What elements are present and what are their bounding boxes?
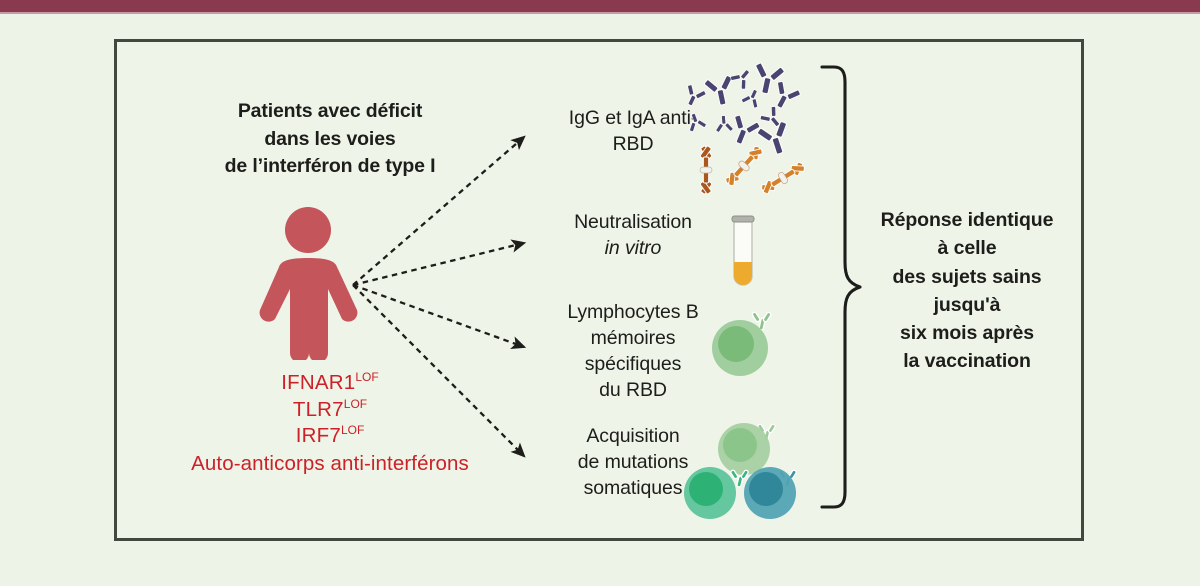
antibodies-icon [682, 60, 806, 198]
label-line-italic: in vitro [543, 236, 723, 262]
gene-item: IFNAR1LOF [120, 370, 540, 397]
test-tube-icon [716, 212, 770, 296]
gene-superscript: LOF [344, 397, 367, 411]
label-line: mémoires [543, 326, 723, 352]
person-icon [248, 205, 368, 360]
b-cell-cluster-icon [682, 416, 802, 524]
patient-title-line-3: de l’interféron de type I [160, 153, 500, 181]
response-line: jusqu'à [862, 291, 1072, 319]
gene-deficiency-list: IFNAR1LOF TLR7LOF IRF7LOF Auto-anticorps… [120, 370, 540, 478]
label-line: spécifiques [543, 352, 723, 378]
patient-title-line-2: dans les voies [160, 126, 500, 154]
response-line: six mois après [862, 319, 1072, 347]
patient-group-title: Patients avec déficit dans les voies de … [160, 98, 500, 181]
figure-canvas: Patients avec déficit dans les voies de … [0, 0, 1200, 586]
b-cell-icon [706, 310, 784, 388]
patient-title-line-1: Patients avec déficit [160, 98, 500, 126]
curly-brace-icon [818, 64, 866, 510]
autoantibodies-label: Auto-anticorps anti-interférons [120, 451, 540, 478]
label-neutralisation: Neutralisation in vitro [543, 210, 723, 262]
gene-superscript: LOF [341, 423, 364, 437]
gene-item: TLR7LOF [120, 397, 540, 424]
gene-item: IRF7LOF [120, 423, 540, 450]
gene-name: IFNAR1 [281, 371, 355, 394]
gene-name: IRF7 [296, 424, 341, 447]
label-line: du RBD [543, 378, 723, 404]
response-line: Réponse identique [862, 206, 1072, 234]
response-summary-text: Réponse identique à celle des sujets sai… [862, 206, 1072, 376]
gene-superscript: LOF [355, 370, 378, 384]
label-memory-b-cells: Lymphocytes B mémoires spécifiques du RB… [543, 300, 723, 404]
response-line: des sujets sains [862, 263, 1072, 291]
label-line: Lymphocytes B [543, 300, 723, 326]
top-accent-bar [0, 0, 1200, 14]
label-line: Neutralisation [543, 210, 723, 236]
response-line: à celle [862, 234, 1072, 262]
gene-name: TLR7 [293, 398, 344, 421]
response-line: la vaccination [862, 347, 1072, 375]
